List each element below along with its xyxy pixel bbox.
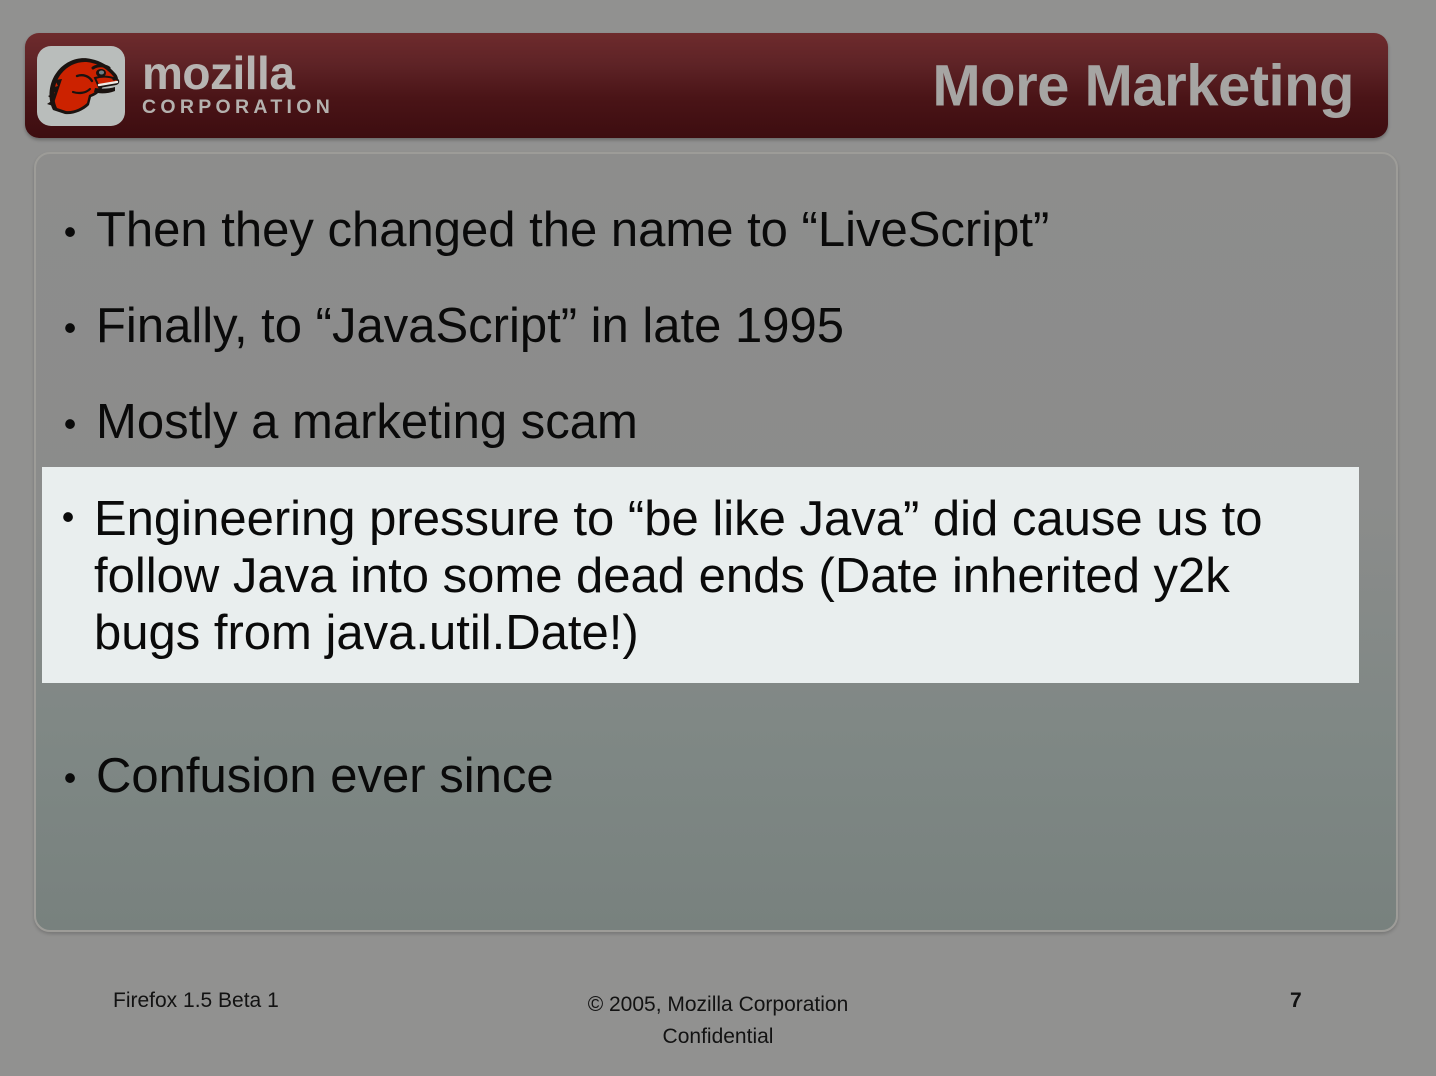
slide-title: More Marketing xyxy=(932,52,1354,119)
wordmark-name: mozilla xyxy=(142,51,334,95)
wordmark-subtitle: CORPORATION xyxy=(142,98,334,118)
bullet-marker: • xyxy=(44,302,96,346)
mozilla-logo: mozilla CORPORATION xyxy=(37,41,334,131)
footer-copyright: © 2005, Mozilla Corporation Confidential xyxy=(0,989,1436,1052)
footer-copyright-line1: © 2005, Mozilla Corporation xyxy=(0,989,1436,1021)
bullet-item: • Confusion ever since xyxy=(44,752,1364,801)
bullet-marker: • xyxy=(44,398,96,442)
bullet-item: • Engineering pressure to “be like Java”… xyxy=(42,491,1359,661)
footer-confidential-line: Confidential xyxy=(0,1021,1436,1053)
slide-footer: Firefox 1.5 Beta 1 © 2005, Mozilla Corpo… xyxy=(0,975,1436,1065)
bullet-item: • Then they changed the name to “LiveScr… xyxy=(44,206,1364,255)
bullet-text: Then they changed the name to “LiveScrip… xyxy=(96,206,1364,255)
bullet-item: • Mostly a marketing scam xyxy=(44,398,1364,447)
page-number: 7 xyxy=(1290,989,1302,1013)
slide-content-panel: • Then they changed the name to “LiveScr… xyxy=(34,152,1398,932)
bullet-marker: • xyxy=(44,752,96,796)
mozilla-wordmark: mozilla CORPORATION xyxy=(142,51,334,122)
slide-header-band: mozilla CORPORATION More Marketing xyxy=(25,33,1388,138)
slide: mozilla CORPORATION More Marketing • The… xyxy=(0,0,1436,1076)
bullet-text: Confusion ever since xyxy=(96,752,1364,801)
mozilla-dino-icon xyxy=(37,46,125,126)
bullet-marker: • xyxy=(44,206,96,250)
highlighted-bullet-block: • Engineering pressure to “be like Java”… xyxy=(42,467,1359,683)
bullet-text: Engineering pressure to “be like Java” d… xyxy=(94,491,1359,661)
bullet-text: Mostly a marketing scam xyxy=(96,398,1364,447)
bullet-marker: • xyxy=(42,491,94,535)
bullet-text: Finally, to “JavaScript” in late 1995 xyxy=(96,302,1364,351)
bullet-item: • Finally, to “JavaScript” in late 1995 xyxy=(44,302,1364,351)
